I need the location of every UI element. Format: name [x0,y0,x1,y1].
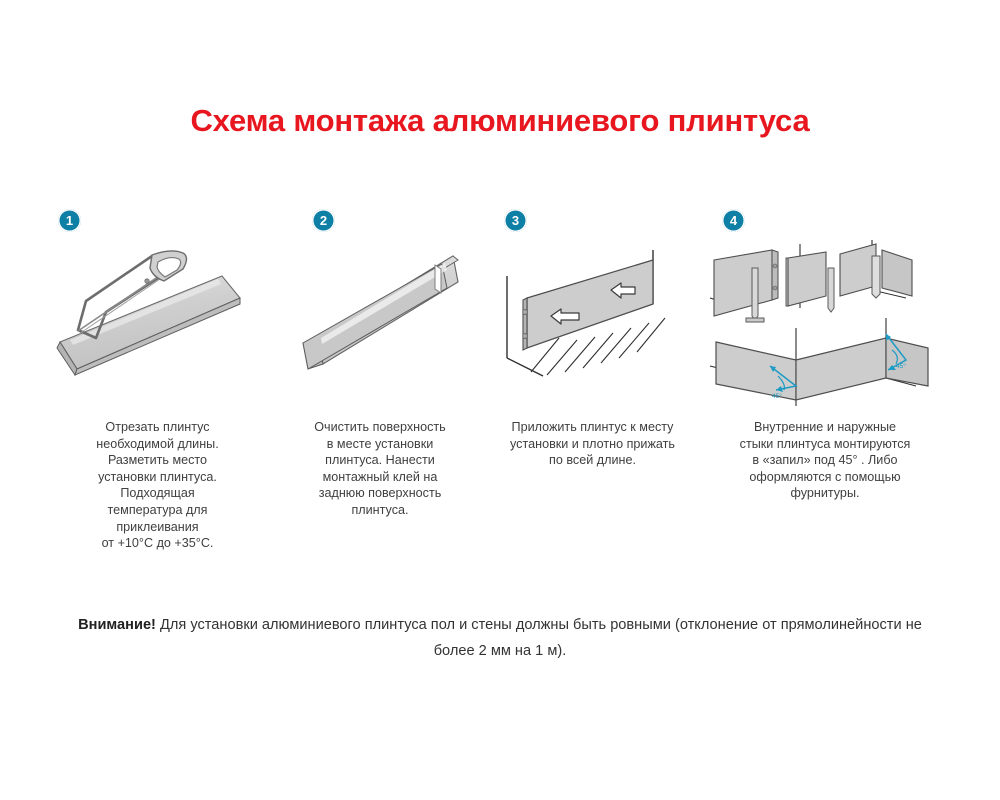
step-badge-3: 3 [504,209,527,232]
angle-label-inner: 45° [772,392,782,400]
step-2-illustration [275,238,485,413]
warning-lead: Внимание! [78,617,156,633]
step-4: 4 [700,196,950,502]
step-2-caption: Очистить поверхность в месте установки п… [275,419,485,519]
steps-row: 1 [40,196,960,552]
press-plinth-to-wall-icon [485,238,700,413]
step-1-caption: Отрезать плинтус необходимой длины. Разм… [40,419,275,552]
step-badge-2: 2 [312,209,335,232]
step-4-illustration: 45° 45° [700,238,950,413]
page-title: Схема монтажа алюминиевого плинтуса [0,103,1000,139]
step-badge-1: 1 [58,209,81,232]
step-3-caption: Приложить плинтус к месту установки и пл… [485,419,700,469]
step-1: 1 [40,196,275,552]
plinth-profile-icon [275,238,485,413]
step-1-illustration [40,238,275,413]
angle-label-outer: 45° [896,362,906,370]
infographic-page: Схема монтажа алюминиевого плинтуса 1 [0,0,1000,800]
hacksaw-cutting-plinth-icon [40,238,275,413]
step-2: 2 [275,196,485,519]
step-badge-4: 4 [722,209,745,232]
step-3-illustration [485,238,700,413]
step-4-caption: Внутренние и наружные стыки плинтуса мон… [700,419,950,502]
corner-joints-icon: 45° 45° [700,238,950,413]
warning-note: Внимание! Для установки алюминиевого пли… [78,612,922,664]
warning-text: Для установки алюминиевого плинтуса пол … [156,617,922,659]
step-3: 3 [485,196,700,469]
